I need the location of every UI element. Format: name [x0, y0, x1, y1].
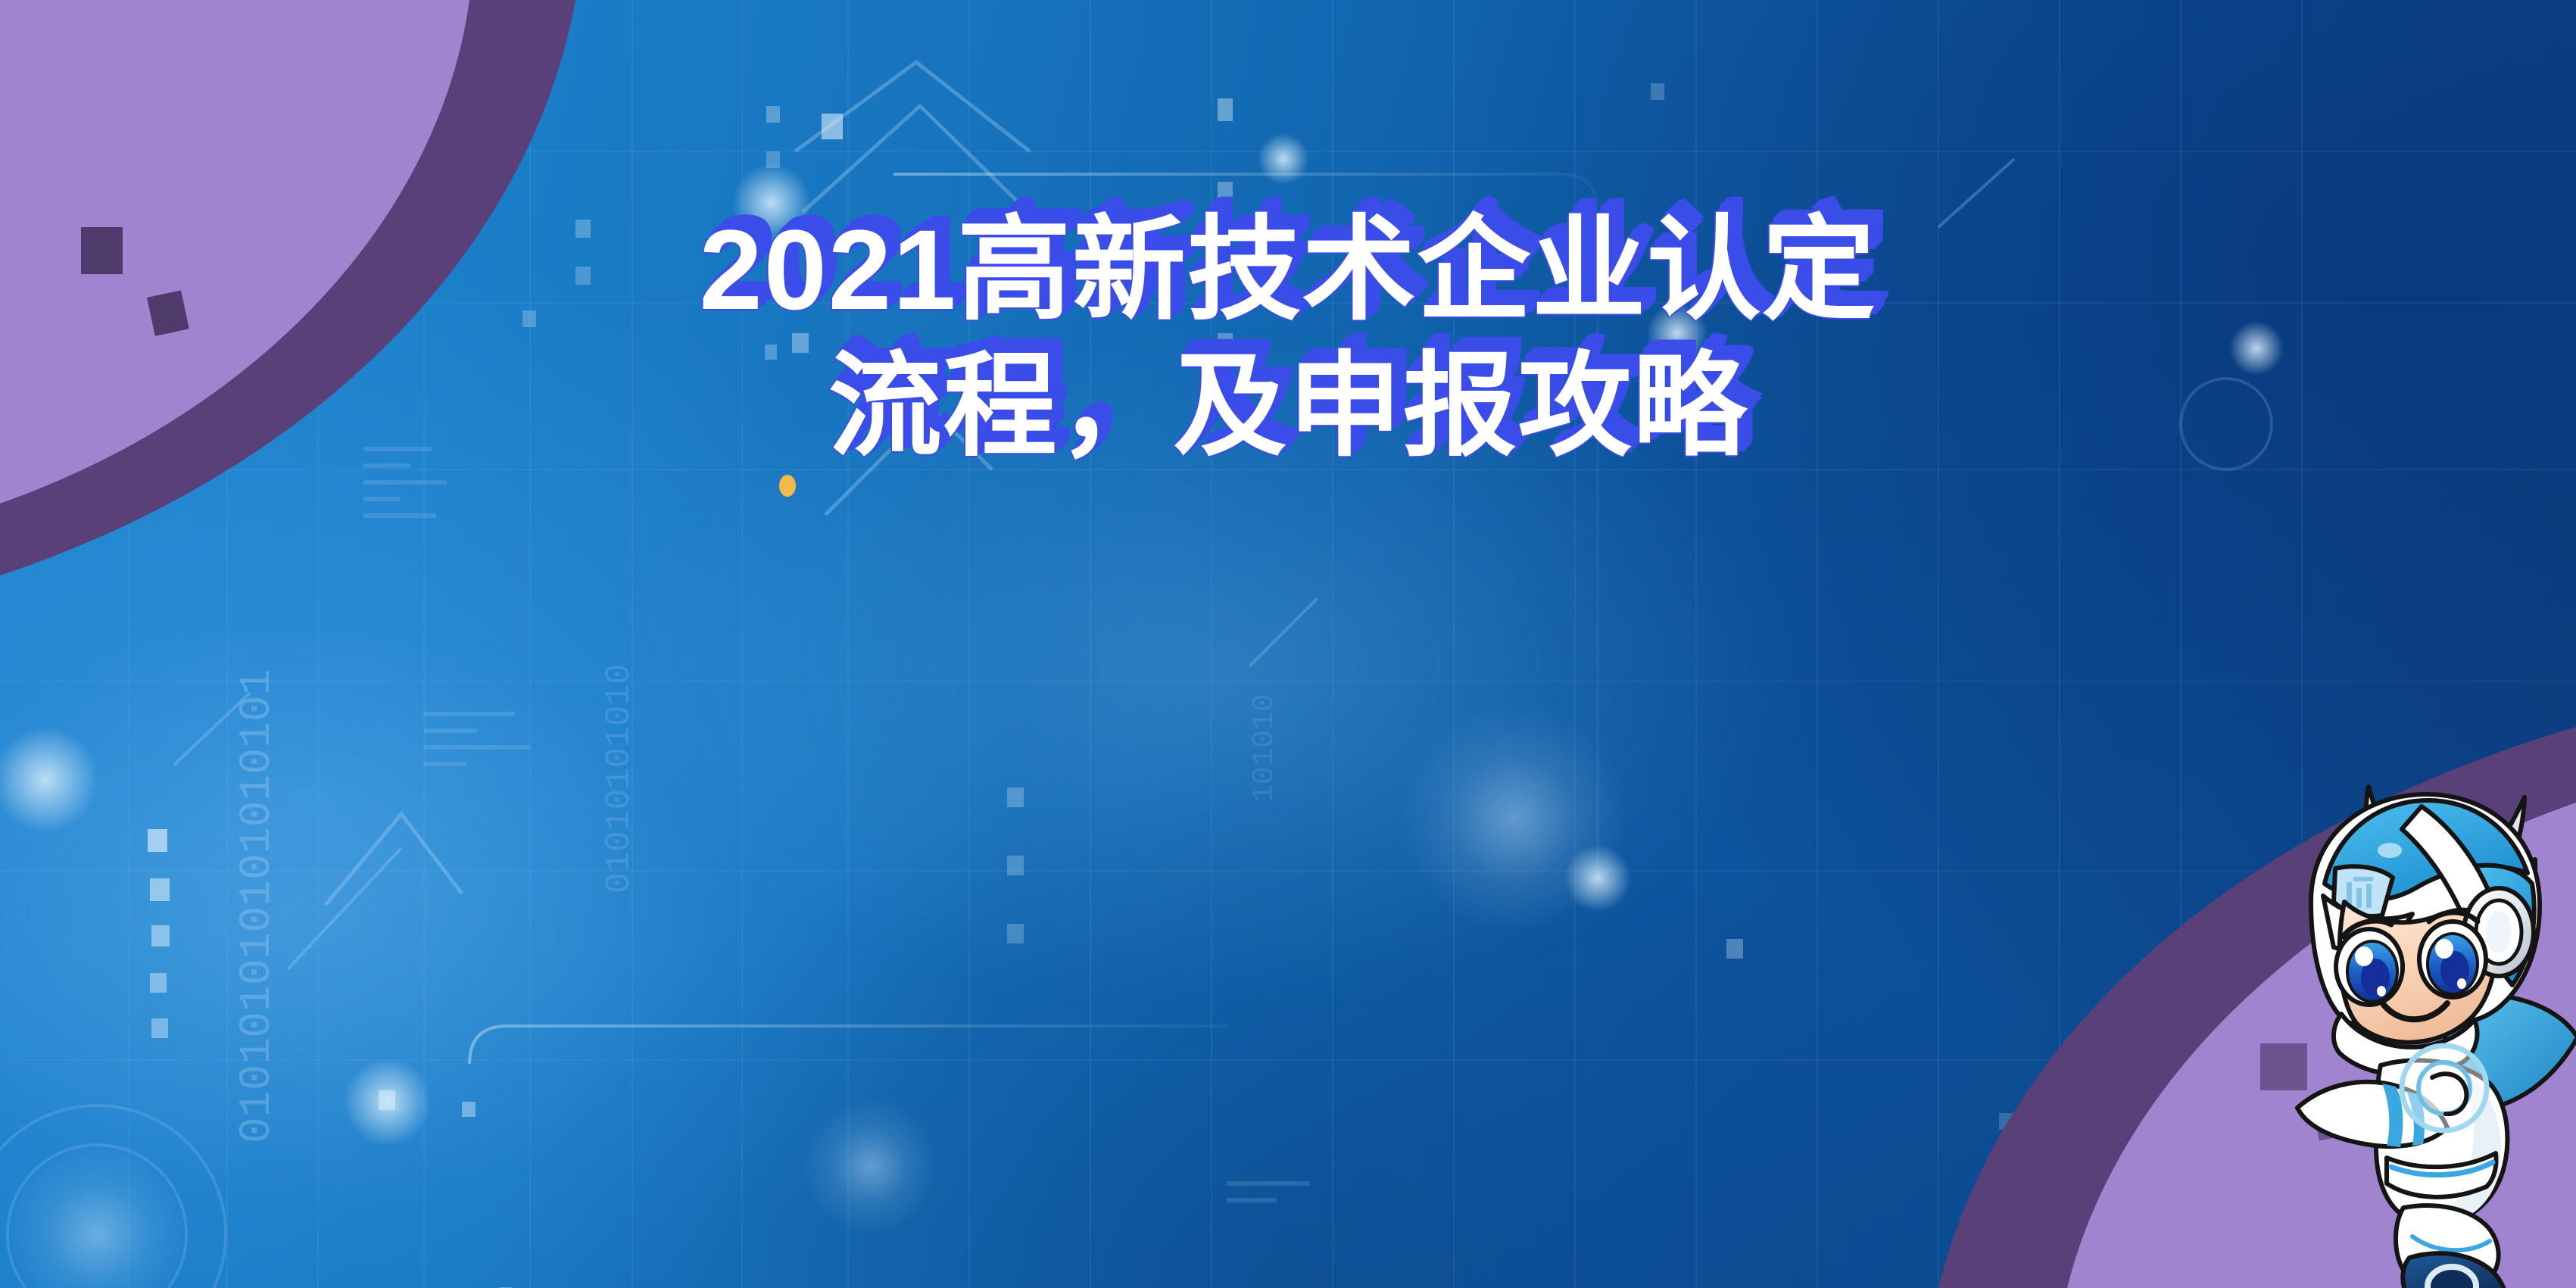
mascot-helmet-gloss — [2378, 843, 2402, 858]
robot-mascot — [2163, 753, 2576, 1288]
mascot-energy-ring — [2402, 1046, 2487, 1131]
mascot-right-eye — [2419, 922, 2486, 997]
mascot-boot-thruster — [2428, 1267, 2476, 1288]
robot-mascot-illustration — [2163, 753, 2576, 1288]
banner-title: 2021高新技术企业认定 流程，及申报攻略 — [0, 213, 2576, 463]
promo-banner: 010101010101010101 01010101010 101010 — [0, 0, 2576, 1288]
mascot-left-eye — [2336, 929, 2403, 1005]
background-left-glow — [0, 618, 722, 1210]
orange-accent-dot — [779, 475, 796, 497]
title-line-2: 流程，及申报攻略 — [0, 349, 2576, 463]
title-line-1: 2021高新技术企业认定 — [0, 213, 2576, 326]
